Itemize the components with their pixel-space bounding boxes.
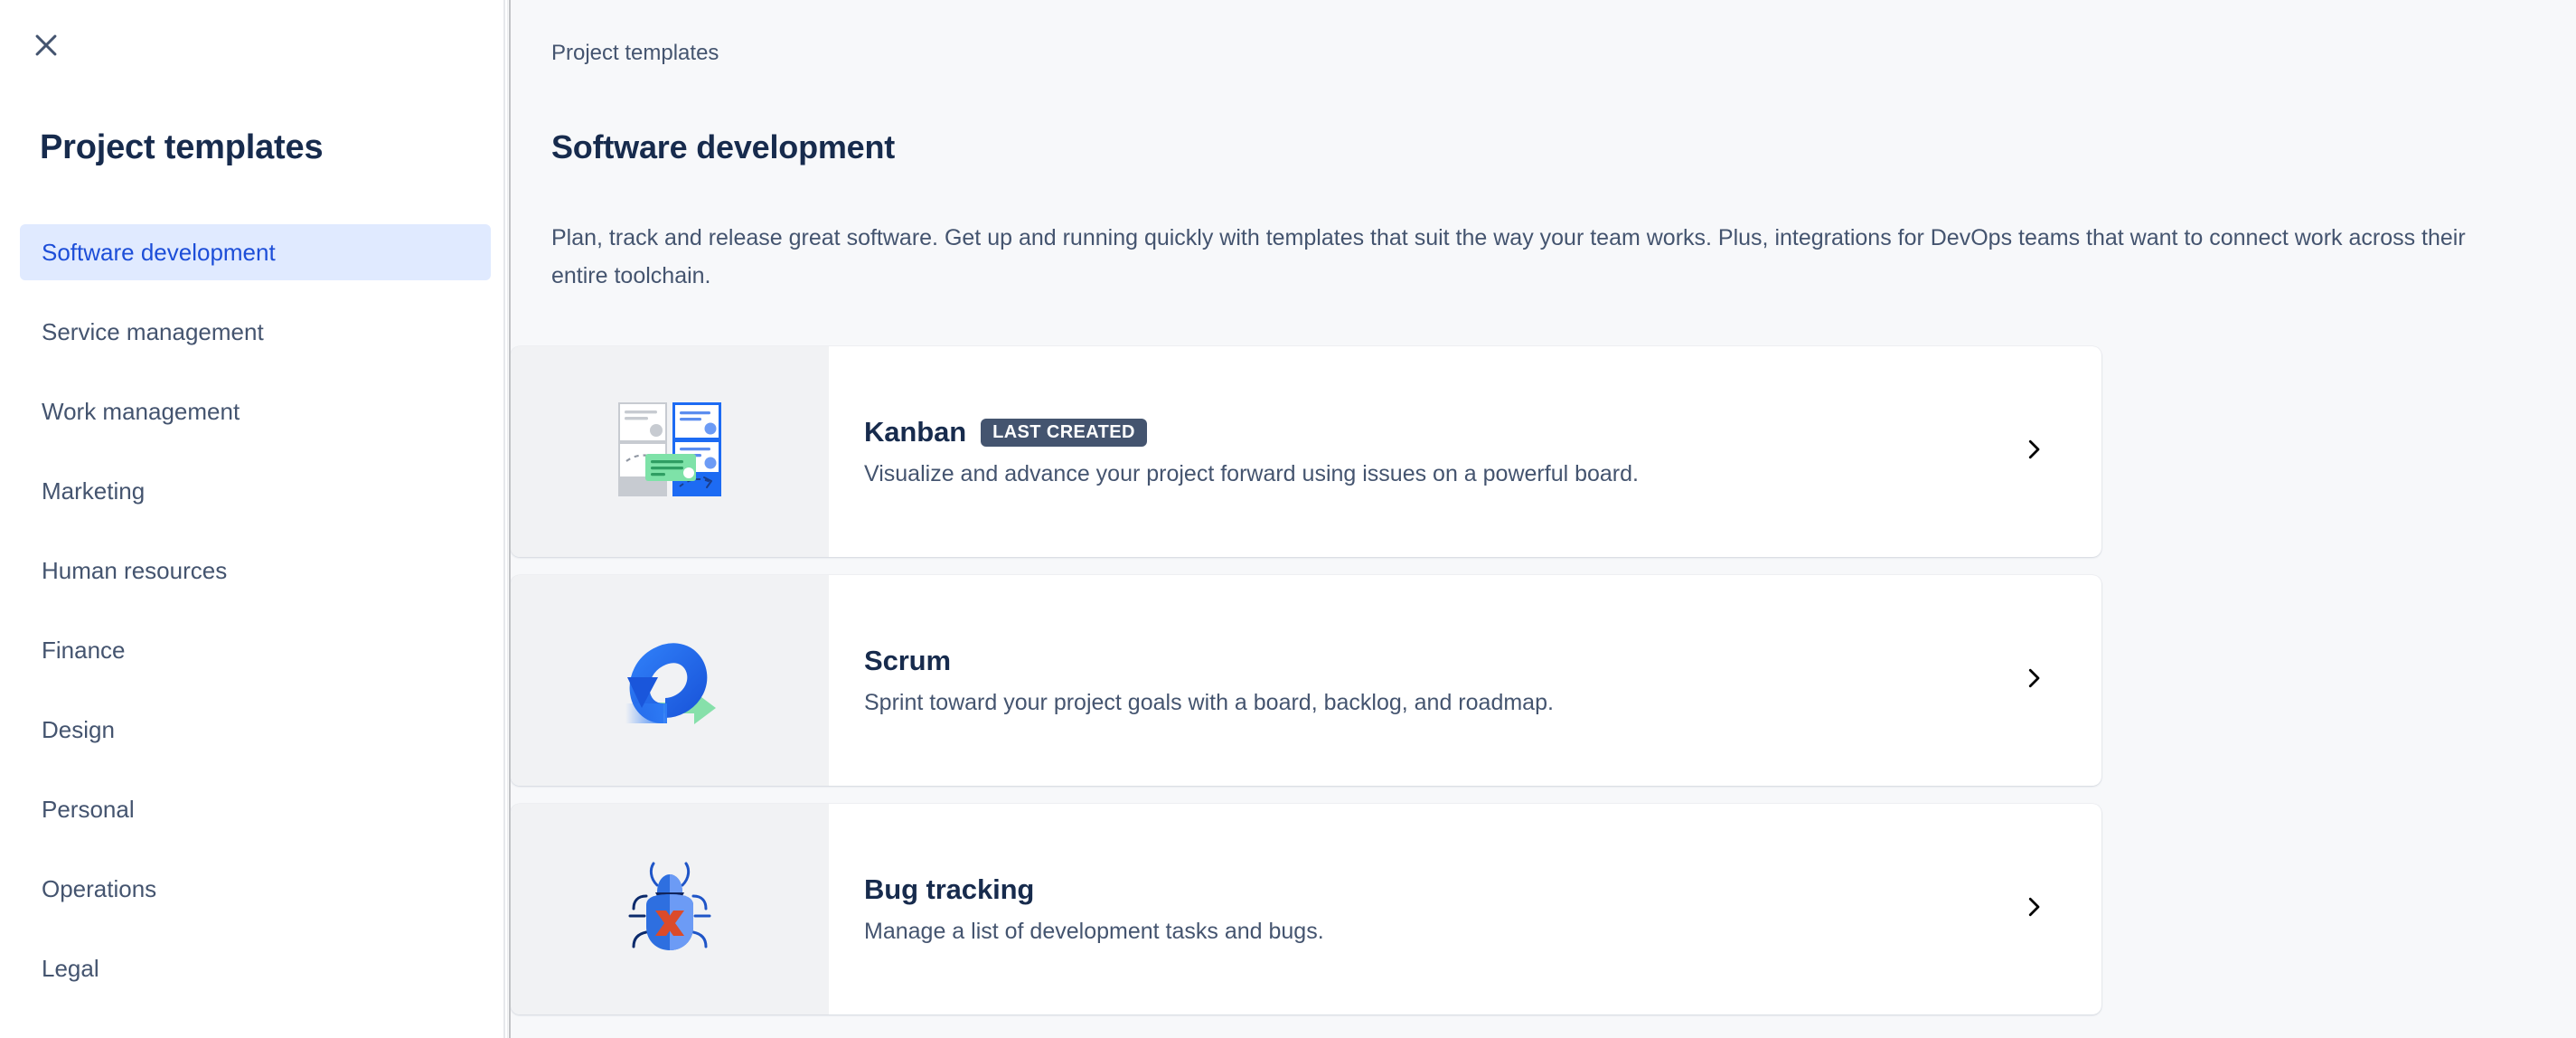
template-card-bug-tracking[interactable]: Bug tracking Manage a list of developmen… [511,804,2101,1014]
template-description: Visualize and advance your project forwa… [864,461,1966,487]
page-description: Plan, track and release great software. … [551,219,2513,295]
sidebar-item-design[interactable]: Design [20,702,491,758]
sidebar-item-software-development[interactable]: Software development [20,224,491,280]
sidebar-item-operations[interactable]: Operations [20,861,491,917]
sidebar-item-label: Legal [42,955,99,983]
panel-divider [503,0,505,1038]
sidebar-item-service-management[interactable]: Service management [20,304,491,360]
template-open-button[interactable] [1966,804,2101,1014]
sidebar-item-label: Human resources [42,557,227,585]
template-open-button[interactable] [1966,575,2101,786]
template-description: Sprint toward your project goals with a … [864,690,1966,716]
sidebar-item-personal[interactable]: Personal [20,781,491,837]
sidebar-item-label: Software development [42,239,276,267]
template-description: Manage a list of development tasks and b… [864,919,1966,945]
template-name: Bug tracking [864,873,1034,906]
sidebar-item-legal[interactable]: Legal [20,940,491,996]
sidebar-item-label: Personal [42,796,135,824]
project-templates-dialog: Project templates Software development S… [0,0,2576,1038]
template-name: Scrum [864,645,951,677]
template-list: Kanban LAST CREATED Visualize and advanc… [511,346,2576,1033]
template-title-row: Kanban LAST CREATED [864,416,1966,448]
sidebar-item-label: Marketing [42,477,145,505]
sidebar-item-finance[interactable]: Finance [20,622,491,678]
template-name: Kanban [864,416,966,448]
chevron-right-icon [2020,436,2047,467]
sidebar-item-label: Design [42,716,115,744]
sidebar-item-label: Service management [42,318,264,346]
kanban-board-icon [611,398,729,505]
main-content: Project templates Software development P… [511,0,2576,1038]
sidebar-item-work-management[interactable]: Work management [20,383,491,439]
chevron-right-icon [2020,665,2047,696]
sidebar-item-human-resources[interactable]: Human resources [20,543,491,599]
close-button[interactable] [24,24,68,67]
chevron-right-icon [2020,893,2047,925]
template-icon-panel [511,804,829,1014]
breadcrumb[interactable]: Project templates [551,41,719,66]
bug-icon [617,854,722,964]
sidebar-nav: Software development Service management … [0,224,511,1020]
template-title-row: Scrum [864,645,1966,677]
template-card-kanban[interactable]: Kanban LAST CREATED Visualize and advanc… [511,346,2101,557]
page-title: Software development [551,128,895,166]
template-card-scrum[interactable]: Scrum Sprint toward your project goals w… [511,575,2101,786]
template-card-body: Bug tracking Manage a list of developmen… [829,804,1966,1014]
template-title-row: Bug tracking [864,873,1966,906]
template-card-body: Kanban LAST CREATED Visualize and advanc… [829,346,1966,557]
sidebar-item-label: Finance [42,637,126,665]
template-icon-panel [511,346,829,557]
sidebar-title: Project templates [40,127,323,168]
sidebar-item-label: Operations [42,875,156,903]
template-card-body: Scrum Sprint toward your project goals w… [829,575,1966,786]
sidebar: Project templates Software development S… [0,0,511,1038]
close-icon [31,30,61,61]
status-badge: LAST CREATED [981,419,1147,447]
sidebar-item-label: Work management [42,398,240,426]
template-icon-panel [511,575,829,786]
scrum-loop-arrow-icon [611,627,729,734]
sidebar-item-marketing[interactable]: Marketing [20,463,491,519]
template-open-button[interactable] [1966,346,2101,557]
